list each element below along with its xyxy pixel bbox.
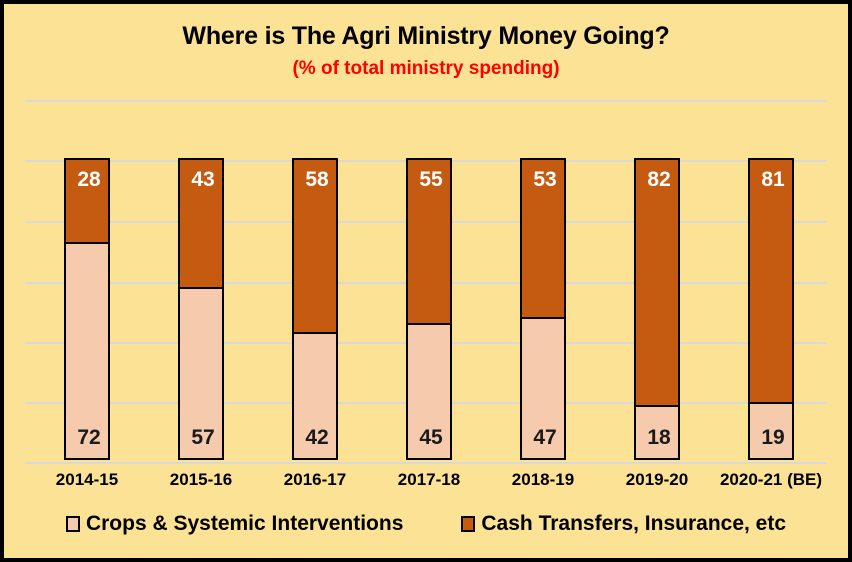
bar-segment-crops[interactable]: 47 bbox=[520, 318, 566, 460]
chart-title: Where is The Agri Ministry Money Going? bbox=[4, 20, 848, 52]
bar-segment-cash[interactable]: 28 bbox=[64, 158, 110, 243]
bar-segment-cash[interactable]: 55 bbox=[406, 158, 452, 324]
legend-label-crops: Crops & Systemic Interventions bbox=[86, 512, 403, 536]
gridline-baseline bbox=[25, 462, 827, 464]
bar-group-2016-17[interactable]: 58 42 bbox=[292, 158, 338, 460]
bar-value-crops: 45 bbox=[408, 426, 454, 450]
bar-segment-crops[interactable]: 72 bbox=[64, 243, 110, 460]
bar-segment-crops[interactable]: 45 bbox=[406, 324, 452, 460]
bar-segment-cash[interactable]: 43 bbox=[178, 158, 224, 288]
bar-segment-cash[interactable]: 82 bbox=[634, 158, 680, 406]
legend-item-cash[interactable]: Cash Transfers, Insurance, etc bbox=[461, 512, 786, 536]
bar-segment-cash[interactable]: 58 bbox=[292, 158, 338, 333]
bar-group-2019-20[interactable]: 82 18 bbox=[634, 158, 680, 460]
x-axis: 2014-15 2015-16 2016-17 2017-18 2018-19 … bbox=[25, 468, 827, 494]
title-block: Where is The Agri Ministry Money Going? … bbox=[4, 20, 848, 82]
bar-value-cash: 81 bbox=[750, 168, 796, 192]
bar-value-crops: 42 bbox=[294, 426, 340, 450]
bar-value-cash: 58 bbox=[294, 168, 340, 192]
bar-value-cash: 28 bbox=[66, 168, 112, 192]
legend-item-crops[interactable]: Crops & Systemic Interventions bbox=[66, 512, 403, 536]
bar-segment-crops[interactable]: 19 bbox=[748, 403, 794, 460]
bar-value-crops: 72 bbox=[66, 426, 112, 450]
bar-segment-cash[interactable]: 53 bbox=[520, 158, 566, 318]
bar-value-crops: 19 bbox=[750, 426, 796, 450]
bar-group-2014-15[interactable]: 28 72 bbox=[64, 158, 110, 460]
chart-subtitle: (% of total ministry spending) bbox=[4, 56, 848, 82]
x-tick-label-2020-21-be: 2020-21 (BE) bbox=[701, 468, 841, 492]
chart-legend: Crops & Systemic Interventions Cash Tran… bbox=[4, 512, 848, 536]
bar-group-2015-16[interactable]: 43 57 bbox=[178, 158, 224, 460]
bar-group-2017-18[interactable]: 55 45 bbox=[406, 158, 452, 460]
bar-group-2020-21-be[interactable]: 81 19 bbox=[748, 158, 794, 460]
crops-swatch-icon bbox=[66, 516, 80, 532]
bar-value-cash: 55 bbox=[408, 168, 454, 192]
bar-value-cash: 82 bbox=[636, 168, 682, 192]
bar-segment-cash[interactable]: 81 bbox=[748, 158, 794, 403]
bar-value-crops: 18 bbox=[636, 426, 682, 450]
legend-label-cash: Cash Transfers, Insurance, etc bbox=[481, 512, 786, 536]
chart-frame: Where is The Agri Ministry Money Going? … bbox=[4, 4, 848, 558]
bar-segment-crops[interactable]: 57 bbox=[178, 288, 224, 460]
bar-segment-crops[interactable]: 18 bbox=[634, 406, 680, 460]
bar-value-cash: 53 bbox=[522, 168, 568, 192]
bars-layer: 28 72 43 57 58 42 bbox=[25, 100, 827, 460]
cash-swatch-icon bbox=[461, 516, 475, 532]
bar-value-crops: 57 bbox=[180, 426, 226, 450]
bar-value-cash: 43 bbox=[180, 168, 226, 192]
plot-area: 28 72 43 57 58 42 bbox=[25, 100, 827, 460]
bar-value-crops: 47 bbox=[522, 426, 568, 450]
bar-segment-crops[interactable]: 42 bbox=[292, 333, 338, 460]
bar-group-2018-19[interactable]: 53 47 bbox=[520, 158, 566, 460]
